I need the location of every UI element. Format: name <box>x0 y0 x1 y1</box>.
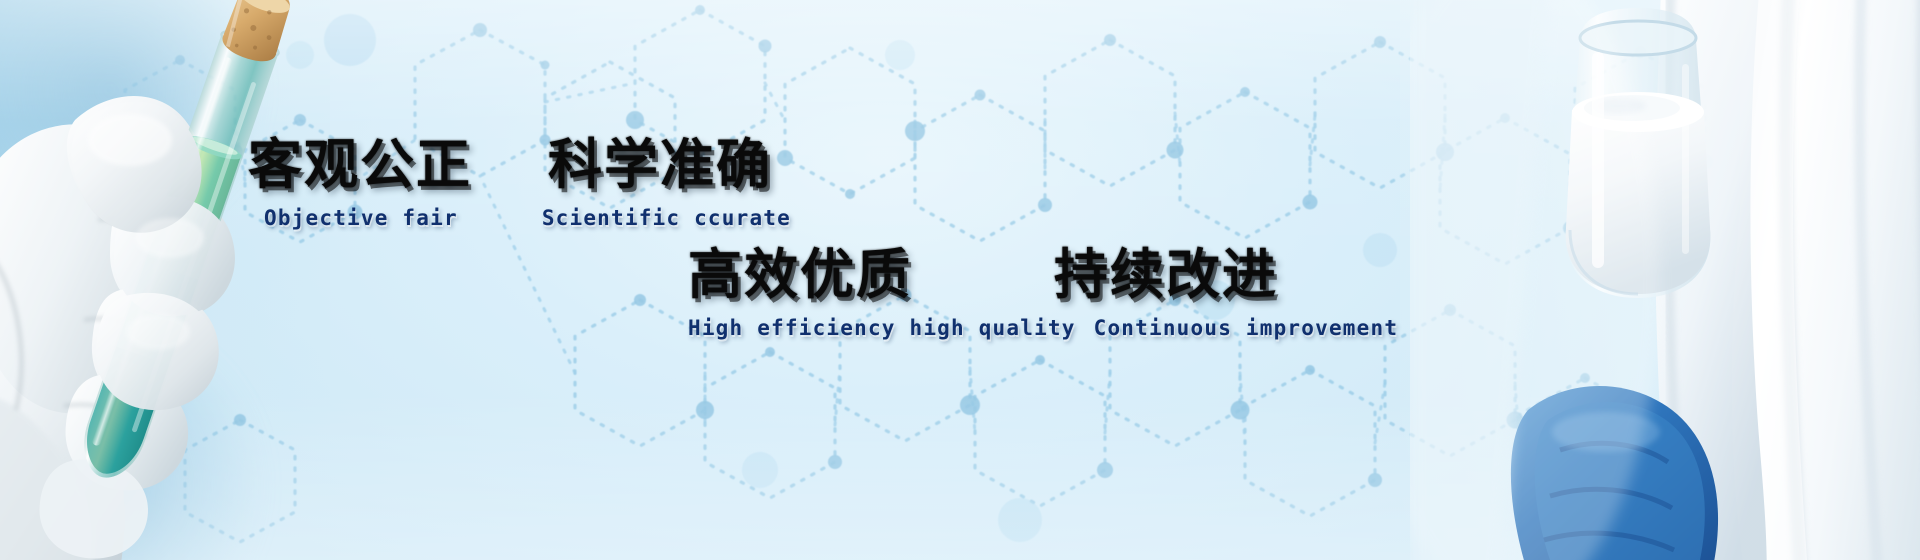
slogan-english-continuous-improvement: Continuous improvement <box>1094 318 1399 339</box>
slogan-row-top: 客观公正 科学准确 Objective fair Scientific ccur… <box>248 138 791 229</box>
slogan-english-scientific-accurate: Scientific ccurate <box>542 208 791 229</box>
slogan-english-high-efficiency: High efficiency high quality <box>688 318 1076 339</box>
slogan-spacer <box>472 138 548 192</box>
slogan-chinese-continuous-improvement: 持续改进 <box>1054 248 1278 302</box>
slogan-spacer <box>458 208 542 229</box>
slogan-chinese-high-efficiency: 高效优质 <box>688 248 912 302</box>
slogan-chinese-scientific-accurate: 科学准确 <box>548 138 772 192</box>
lab-coat-with-beaker <box>1410 0 1920 560</box>
slogan-row-top-english: Objective fair Scientific ccurate <box>248 208 791 229</box>
gloved-hand-holding-test-tube <box>0 0 410 560</box>
slogan-row-bottom: 高效优质 持续改进 High efficiency high quality C… <box>688 248 1398 339</box>
slogan-english-objective-fair: Objective fair <box>264 208 458 229</box>
slogan-chinese-objective-fair: 客观公正 <box>248 138 472 192</box>
slogan-row-top-chinese: 客观公正 科学准确 <box>248 138 791 192</box>
slogan-spacer <box>1076 318 1094 339</box>
slogan-row-bottom-english: High efficiency high quality Continuous … <box>688 318 1398 339</box>
slogan-row-bottom-chinese: 高效优质 持续改进 <box>688 248 1398 302</box>
slogan-spacer <box>912 248 1054 302</box>
hero-banner: 客观公正 科学准确 Objective fair Scientific ccur… <box>0 0 1920 560</box>
